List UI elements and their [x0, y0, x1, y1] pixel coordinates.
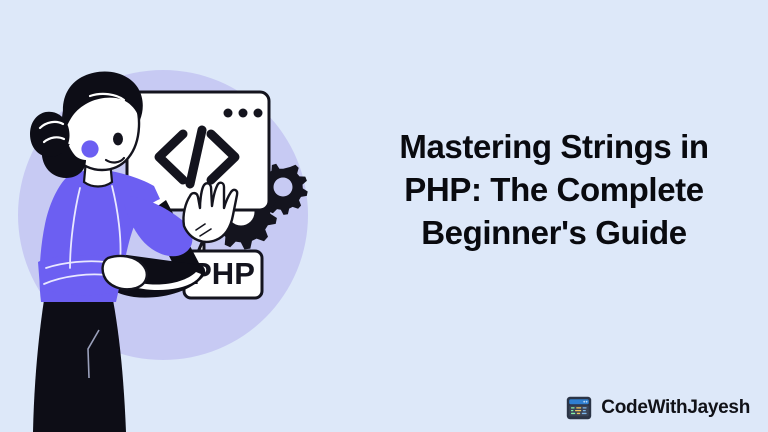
woman-developer-illustration: PHP	[0, 0, 340, 432]
page-title: Mastering Strings in PHP: The Complete B…	[352, 126, 756, 255]
illustration-svg: PHP	[0, 0, 340, 432]
title-block: Mastering Strings in PHP: The Complete B…	[352, 126, 756, 255]
code-window-icon	[566, 396, 592, 420]
brand-watermark: CodeWithJayesh	[566, 396, 750, 420]
window-dot	[239, 109, 248, 118]
window-dot	[224, 109, 233, 118]
left-hand	[103, 256, 147, 289]
window-dot	[254, 109, 263, 118]
blush	[81, 140, 98, 157]
brand-name: CodeWithJayesh	[601, 397, 750, 419]
eye	[113, 133, 123, 146]
article-banner: PHP	[0, 0, 768, 432]
hair-bun	[30, 112, 70, 157]
skirt	[33, 300, 126, 432]
